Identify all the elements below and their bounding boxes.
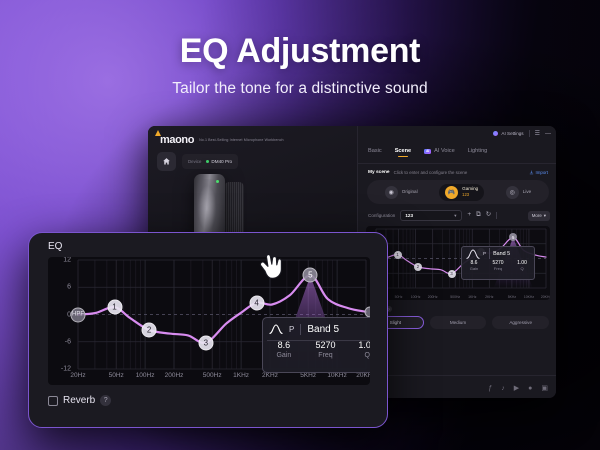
scene-gaming-text: Gaming [462,186,478,191]
tab-ai-voice[interactable]: AI AI Voice [424,148,455,157]
mini-q-label: Q [510,266,534,271]
eq-x-tick: 100Hz [136,372,155,379]
mini-q-field[interactable]: 1.00 Q [510,260,534,272]
maono-logo: maono [158,134,194,146]
mini-band-popup: P Band 5 8.6 Gain 5270 Freq [461,246,535,280]
header: EQ Adjustment Tailor the tone for a dist… [0,32,600,98]
scene-original-label: Original [402,189,418,195]
more-label: More [532,213,542,218]
reset-icon[interactable]: ↻ [486,212,491,219]
eq-output-handle[interactable] [365,306,371,317]
mini-eq-x-tick: 5KHz [508,295,516,299]
eq-x-tick: 5KHz [300,372,316,379]
screenshot-root: EQ Adjustment Tailor the tone for a dist… [0,0,600,450]
bell-curve-icon [466,248,480,260]
eq-x-tick: 10KHz [327,372,347,379]
social-links: ƒ ♪ ▶ ● ▣ [488,385,548,392]
configuration-label: Configuration [368,213,395,218]
eq-x-tick: 1KHz [233,372,249,379]
configuration-value: 123 [405,213,413,218]
import-icon [529,170,534,175]
titlebar-divider [529,130,530,137]
scene-gaming-label: Gaming 123 [462,186,478,198]
mini-freq-label: Freq [486,266,510,271]
tab-lighting[interactable]: Lighting [468,148,488,157]
youtube-icon[interactable]: ▶ [514,385,519,392]
mini-band-name: Band 5 [493,251,510,257]
eq-band-node-4[interactable]: 4 [249,295,264,310]
reverb-option-aggressive[interactable]: Aggressive [492,316,549,329]
mini-eq-x-tick: 2KHz [485,295,493,299]
gain-label: Gain [263,352,305,359]
eq-x-tick: 500Hz [203,372,222,379]
page-title: EQ Adjustment [0,32,600,71]
live-icon: ◎ [506,186,519,199]
q-label: Q [346,352,370,359]
scene-button-gaming[interactable]: 🎮 Gaming 123 [439,184,484,201]
gain-value: 8.6 [263,340,305,350]
scene-selector: ◉ Original 🎮 Gaming 123 ◎ Live [367,180,549,204]
discord-icon[interactable]: ● [528,385,532,392]
configuration-row: Configuration 123 ▼ + ⧉ ↻ More ▾ [368,210,550,221]
tab-scene[interactable]: Scene [395,148,411,157]
mini-eq-x-tick: 1KHz [468,295,476,299]
mic-led-icon [216,180,219,183]
freq-field[interactable]: 5270 Freq [305,340,347,358]
mini-gain-field[interactable]: 8.6 Gain [462,260,486,272]
eq-y-tick: 6 [67,284,71,291]
band-popup: P Band 5 8.6 Gain 5270 Freq 1.00 [262,317,370,373]
scene-gaming-sub: 123 [462,192,469,197]
page-subtitle: Tailor the tone for a distinctive sound [0,80,600,98]
device-name: DM40 Pro [206,159,232,164]
mini-eq-chart[interactable]: HPF12345 20Hz50Hz100Hz200Hz500Hz1KHz2KHz… [366,226,550,300]
import-button[interactable]: Import [529,170,548,175]
eq-band-node-hpf[interactable]: HPF [71,307,86,322]
mini-eq-band-node-3[interactable]: 3 [448,270,456,278]
mini-band-values: 8.6 Gain 5270 Freq 1.00 Q [462,260,534,272]
gain-field[interactable]: 8.6 Gain [263,340,305,358]
reverb-options: Slight Medium Aggressive [367,316,549,329]
device-status-dot [206,160,209,163]
home-icon [162,157,171,166]
mini-eq-band-node-5[interactable]: 5 [509,233,517,241]
eq-band-node-3[interactable]: 3 [198,335,213,350]
mini-band-popup-header: P Band 5 [462,247,534,260]
band-popup-hr [267,340,370,341]
eq-x-tick: 200Hz [165,372,184,379]
brand-tagline: No.1 Best-Selling Internet Microphone Wo… [199,138,284,143]
tab-ai-voice-label: AI Voice [434,148,455,154]
question-icon-eq[interactable]: ? [100,395,111,406]
device-row: Device DM40 Pro [157,152,238,171]
mini-freq-field[interactable]: 5270 Freq [486,260,510,272]
hand-pointer-icon [258,250,292,284]
configuration-select[interactable]: 123 ▼ [400,210,462,221]
import-label: Import [536,170,548,175]
eq-x-tick: 20Hz [70,372,85,379]
mini-eq-band-node-2[interactable]: 2 [414,263,422,271]
my-scene-header: My scene Click to enter and configure th… [368,170,548,175]
eq-x-tick: 50Hz [109,372,124,379]
ai-badge-icon: AI [424,149,431,154]
tab-bar: Basic Scene AI AI Voice Lighting [368,148,487,157]
mini-eq-x-tick: 50Hz [395,295,403,299]
reverb-option-medium[interactable]: Medium [430,316,487,329]
band-values: 8.6 Gain 5270 Freq 1.00 Q [263,340,370,358]
device-selector[interactable]: Device DM40 Pro [182,154,238,169]
eq-x-tick: 2KHz [262,372,278,379]
scene-button-original[interactable]: ◉ Original [379,184,424,201]
eq-x-tick: 20KHz [356,372,370,379]
reverb-checkbox-label: Reverb [63,395,95,406]
chevron-down-icon-more: ▾ [544,213,546,219]
mini-eq-band-node-1[interactable]: 1 [394,251,402,259]
scene-live-label: Live [523,189,531,195]
eq-y-axis-labels: 1260-6-12 [48,257,74,385]
mini-gain-label: Gain [462,266,486,271]
freq-value: 5270 [305,340,347,350]
eq-x-axis-labels: 20Hz50Hz100Hz200Hz500Hz1KHz2KHz5KHz10KHz… [48,372,370,384]
configuration-divider [496,212,497,219]
mini-popup-divider [489,248,490,259]
original-icon: ◉ [385,186,398,199]
q-value: 1.00 [346,340,370,350]
scene-button-live[interactable]: ◎ Live [500,184,537,201]
q-field[interactable]: 1.00 Q [346,340,370,358]
tab-bar-divider [358,163,556,164]
eq-band-node-2[interactable]: 2 [142,322,157,337]
mini-eq-x-tick: 20KHz [541,295,550,299]
eq-reverb-row: Reverb ? [48,395,111,406]
mini-eq-x-tick: 500Hz [450,295,460,299]
bell-curve-icon-large [269,323,283,335]
tiktok-icon[interactable]: ♪ [501,385,505,392]
mini-band-type: P [483,251,486,256]
eq-band-node-5[interactable]: 5 [303,268,318,283]
mini-eq-x-tick: 100Hz [411,295,421,299]
band-name: Band 5 [307,324,339,335]
eq-panel: EQ 1260-6-12 20Hz50Hz100Hz200Hz500Hz1KHz… [28,232,388,428]
device-label: Device [188,159,201,164]
mini-eq-x-tick: 200Hz [428,295,438,299]
my-scene-subtitle: Click to enter and configure the scene [394,170,468,175]
copy-icon[interactable]: ⧉ [476,212,481,219]
eq-panel-title: EQ [48,241,62,252]
home-button[interactable] [157,152,176,171]
reverb-checkbox[interactable] [48,396,58,406]
menu-icon[interactable]: ☰ [535,131,540,137]
ai-settings-label: AI Settings [501,131,523,136]
facebook-icon[interactable]: ƒ [488,385,492,392]
eq-band-node-1[interactable]: 1 [107,300,122,315]
window-titlebar: AI Settings ☰ — [493,130,551,137]
more-button[interactable]: More ▾ [528,211,550,221]
instagram-icon[interactable]: ▣ [541,385,548,392]
mini-eq-x-tick: 10KHz [524,295,534,299]
chevron-down-icon: ▼ [453,213,457,218]
eq-y-tick: -6 [65,338,71,345]
ai-settings-icon [493,131,498,136]
gaming-icon: 🎮 [445,186,458,199]
freq-label: Freq [305,352,347,359]
minimize-button[interactable]: — [545,131,551,137]
band-popup-divider [300,324,301,335]
my-scene-title: My scene [368,170,390,175]
eq-y-tick: 12 [63,257,71,264]
band-type: P [289,325,294,334]
band-popup-header: P Band 5 [263,318,370,340]
ai-settings-button[interactable]: AI Settings [493,131,523,136]
brand: maono No.1 Best-Selling Internet Microph… [158,134,284,146]
plus-icon[interactable]: + [467,212,471,219]
eq-chart[interactable]: 1260-6-12 20Hz50Hz100Hz200Hz500Hz1KHz2KH… [48,257,370,385]
device-name-text: DM40 Pro [211,159,232,164]
tab-basic[interactable]: Basic [368,148,382,157]
